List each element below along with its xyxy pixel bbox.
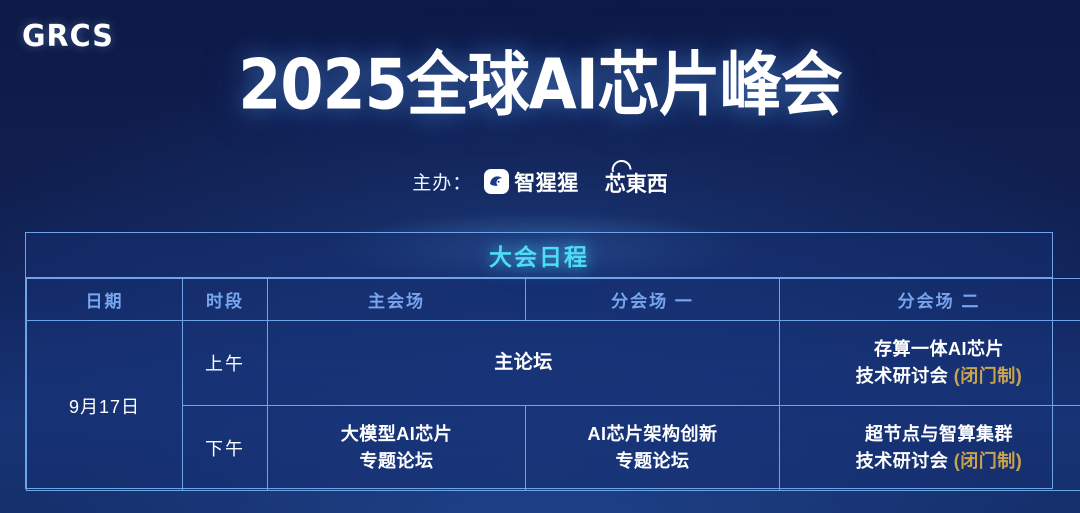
organizer-row: 主办： 智猩猩 芯東西 xyxy=(0,165,1080,198)
column-header-date: 日期 xyxy=(27,279,183,321)
schedule-title: 大会日程 xyxy=(26,233,1052,278)
session-line-1: AI芯片架构创新 xyxy=(588,424,718,444)
session-line-2: 专题论坛 xyxy=(530,448,775,475)
session-line-2: 专题论坛 xyxy=(272,448,521,475)
organizer-name: 智猩猩 xyxy=(514,167,579,197)
cell-session-main-afternoon: 大模型AI芯片 专题论坛 xyxy=(268,406,526,491)
session-line-1: 大模型AI芯片 xyxy=(341,424,453,444)
schedule-grid: 日期 时段 主会场 分会场 一 分会场 二 9月17日 上午 主论坛 存算一体A… xyxy=(26,278,1080,491)
organizer-logo-zhixingxing: 智猩猩 xyxy=(484,167,579,197)
organizer-label: 主办： xyxy=(412,168,472,195)
table-header-row: 日期 时段 主会场 分会场 一 分会场 二 xyxy=(27,279,1080,321)
table-row: 下午 大模型AI芯片 专题论坛 AI芯片架构创新 专题论坛 超节点与智算集群 xyxy=(27,406,1080,491)
page-title: 2025全球AI芯片峰会 xyxy=(0,50,1080,119)
cell-session-main-morning: 主论坛 xyxy=(268,321,780,406)
cell-slot: 下午 xyxy=(183,406,268,491)
cell-session-sub2-morning: 存算一体AI芯片 技术研讨会 (闭门制) xyxy=(780,321,1080,406)
column-header-slot: 时段 xyxy=(183,279,268,321)
cell-session-sub2-afternoon: 超节点与智算集群 技术研讨会 (闭门制) xyxy=(780,406,1080,491)
column-header-sub-venue-1: 分会场 一 xyxy=(526,279,780,321)
column-header-main-venue: 主会场 xyxy=(268,279,526,321)
grcs-logo: GRCS xyxy=(22,19,114,54)
closed-door-note: (闭门制) xyxy=(954,451,1023,471)
cell-date: 9月17日 xyxy=(27,321,183,491)
session-line-2: 技术研讨会 (闭门制) xyxy=(784,448,1080,475)
session-line-2: 技术研讨会 (闭门制) xyxy=(784,363,1080,390)
table-row: 9月17日 上午 主论坛 存算一体AI芯片 技术研讨会 (闭门制) xyxy=(27,321,1080,406)
session-line-1: 超节点与智算集群 xyxy=(865,424,1013,444)
session-line-1: 存算一体AI芯片 xyxy=(874,339,1004,359)
schedule-table: 大会日程 日期 时段 主会场 分会场 一 分会场 二 9月17日 上午 主论坛 … xyxy=(25,232,1053,489)
ape-head-icon xyxy=(484,169,509,194)
closed-door-note: (闭门制) xyxy=(954,366,1023,386)
column-header-sub-venue-2: 分会场 二 xyxy=(780,279,1080,321)
summit-poster: GRCS 2025全球AI芯片峰会 主办： 智猩猩 芯東西 大会日程 日期 时段… xyxy=(0,0,1080,513)
cell-session-sub1-afternoon: AI芯片架构创新 专题论坛 xyxy=(526,406,780,491)
cell-slot: 上午 xyxy=(183,321,268,406)
organizer-logo-xindongxi: 芯東西 xyxy=(605,165,668,198)
